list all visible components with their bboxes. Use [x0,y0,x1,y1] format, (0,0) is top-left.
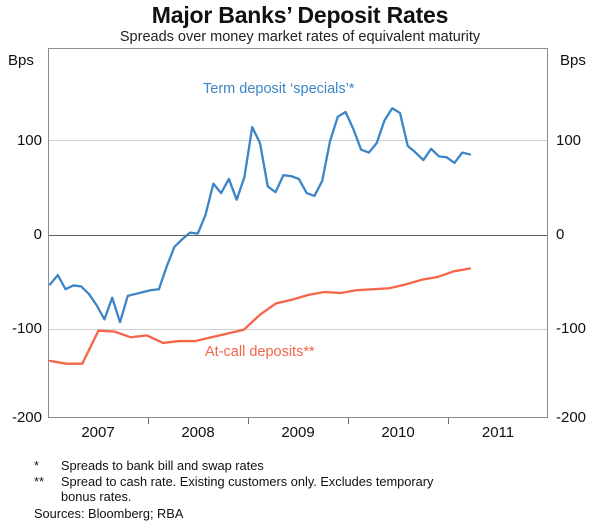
x-tickmark-2008 [148,418,149,424]
chart-title: Major Banks’ Deposit Rates [0,2,600,29]
footnote-2-text: Spread to cash rate. Existing customers … [61,474,574,490]
series-label-at-call: At-call deposits** [205,344,315,360]
x-tick-2010: 2010 [358,424,438,441]
y-axis-unit-right: Bps [560,52,586,69]
gridline-100 [49,140,547,141]
footnote-2-marker: ** [34,474,61,490]
x-tick-2011: 2011 [458,424,538,441]
footnote-1-text: Spreads to bank bill and swap rates [61,458,574,474]
footnote-1-marker: * [34,458,61,474]
y-tick-right-100: 100 [556,132,581,149]
y-tick-left-100: 100 [2,132,42,149]
chart-subtitle: Spreads over money market rates of equiv… [0,29,600,45]
footnote-1: * Spreads to bank bill and swap rates [34,458,574,474]
y-tick-right-neg100: -100 [556,320,586,337]
x-tick-2008: 2008 [158,424,238,441]
footnotes: * Spreads to bank bill and swap rates **… [34,458,574,521]
footnote-2: ** Spread to cash rate. Existing custome… [34,474,574,490]
chart-container: Major Banks’ Deposit Rates Spreads over … [0,0,600,527]
x-tickmark-2010 [348,418,349,424]
gridline-neg100 [49,329,547,330]
y-axis-unit-left: Bps [8,52,34,69]
y-tick-left-neg100: -100 [2,320,42,337]
zero-axis-line [49,235,547,236]
y-tick-left-0: 0 [2,226,42,243]
x-tick-2007: 2007 [58,424,138,441]
y-tick-right-0: 0 [556,226,564,243]
footnote-2-continuation: bonus rates. [61,489,574,505]
x-tick-2009: 2009 [258,424,338,441]
y-tick-right-neg200: -200 [556,409,586,426]
x-tickmark-2009 [248,418,249,424]
x-tickmark-2011 [448,418,449,424]
plot-area [48,48,548,418]
y-tick-left-neg200: -200 [2,409,42,426]
series-label-term-deposit: Term deposit ‘specials’* [203,81,355,97]
sources-line: Sources: Bloomberg; RBA [34,506,574,522]
